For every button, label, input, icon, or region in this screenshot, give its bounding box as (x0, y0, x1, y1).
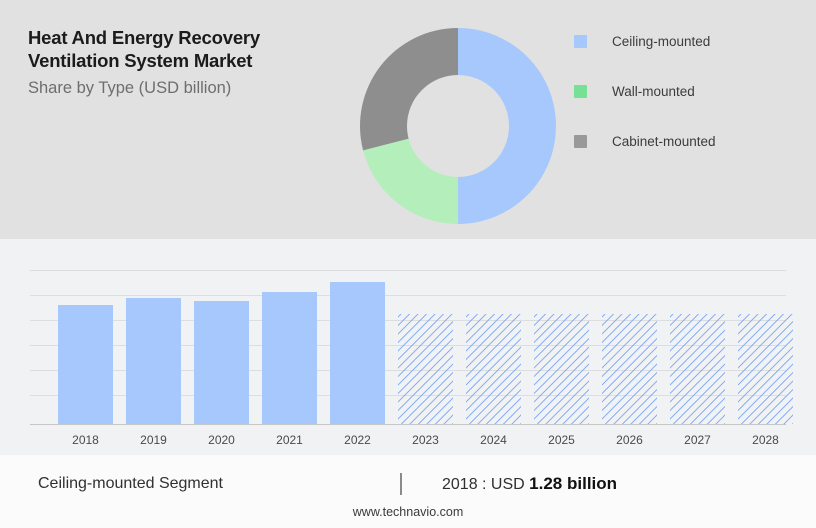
page-title-line-2: Ventilation System Market (28, 49, 348, 72)
bar-2021[interactable] (262, 292, 317, 424)
chart-legend: Ceiling-mounted Wall-mounted Cabinet-mou… (574, 16, 804, 166)
x-axis-label-2028: 2028 (738, 433, 793, 447)
bar-2019[interactable] (126, 298, 181, 424)
bar-2018[interactable] (58, 305, 113, 424)
bar-chart-x-axis-labels: 2018201920202021202220232024202520262027… (30, 433, 786, 453)
bar-chart-region: 2018201920202021202220232024202520262027… (0, 239, 816, 455)
legend-label-ceiling-mounted: Ceiling-mounted (612, 34, 710, 49)
x-axis-label-2027: 2027 (670, 433, 725, 447)
footer-value-prefix: 2018 : USD (442, 476, 525, 493)
x-axis-label-2025: 2025 (534, 433, 589, 447)
footer-value: 1.28 billion (529, 474, 617, 493)
legend-item-ceiling-mounted[interactable]: Ceiling-mounted (574, 16, 804, 66)
x-axis-label-2024: 2024 (466, 433, 521, 447)
x-axis-label-2020: 2020 (194, 433, 249, 447)
infographic-root: Heat And Energy Recovery Ventilation Sys… (0, 0, 816, 528)
footer-row: Ceiling-mounted Segment 2018 : USD 1.28 … (0, 473, 816, 495)
title-block: Heat And Energy Recovery Ventilation Sys… (28, 26, 348, 98)
donut-chart (360, 28, 556, 224)
bar-2028[interactable] (738, 314, 793, 424)
legend-label-wall-mounted: Wall-mounted (612, 84, 695, 99)
legend-label-cabinet-mounted: Cabinet-mounted (612, 134, 716, 149)
x-axis-label-2021: 2021 (262, 433, 317, 447)
bar-2020[interactable] (194, 301, 249, 424)
x-axis-label-2023: 2023 (398, 433, 453, 447)
legend-swatch-wall-icon (574, 85, 587, 98)
site-url[interactable]: www.technavio.com (0, 505, 816, 519)
legend-item-cabinet-mounted[interactable]: Cabinet-mounted (574, 116, 804, 166)
bar-chart-plot (30, 270, 786, 425)
page-title-line-1: Heat And Energy Recovery (28, 26, 348, 49)
bar-2025[interactable] (534, 314, 589, 424)
bar-chart-axis-line (30, 424, 786, 425)
legend-item-wall-mounted[interactable]: Wall-mounted (574, 66, 804, 116)
legend-swatch-ceiling-icon (574, 35, 587, 48)
page-subtitle: Share by Type (USD billion) (28, 78, 348, 98)
bar-chart-bars (30, 270, 786, 425)
x-axis-label-2019: 2019 (126, 433, 181, 447)
footer-value-block: 2018 : USD 1.28 billion (402, 474, 816, 494)
donut-hole (407, 75, 509, 177)
bar-2027[interactable] (670, 314, 725, 424)
legend-swatch-cabinet-icon (574, 135, 587, 148)
bar-2024[interactable] (466, 314, 521, 424)
bar-2022[interactable] (330, 282, 385, 424)
header-panel: Heat And Energy Recovery Ventilation Sys… (0, 0, 816, 239)
donut-chart-svg (360, 28, 556, 224)
x-axis-label-2026: 2026 (602, 433, 657, 447)
footer-segment-label: Ceiling-mounted Segment (0, 475, 400, 493)
x-axis-label-2018: 2018 (58, 433, 113, 447)
x-axis-label-2022: 2022 (330, 433, 385, 447)
bar-2026[interactable] (602, 314, 657, 424)
bar-2023[interactable] (398, 314, 453, 424)
